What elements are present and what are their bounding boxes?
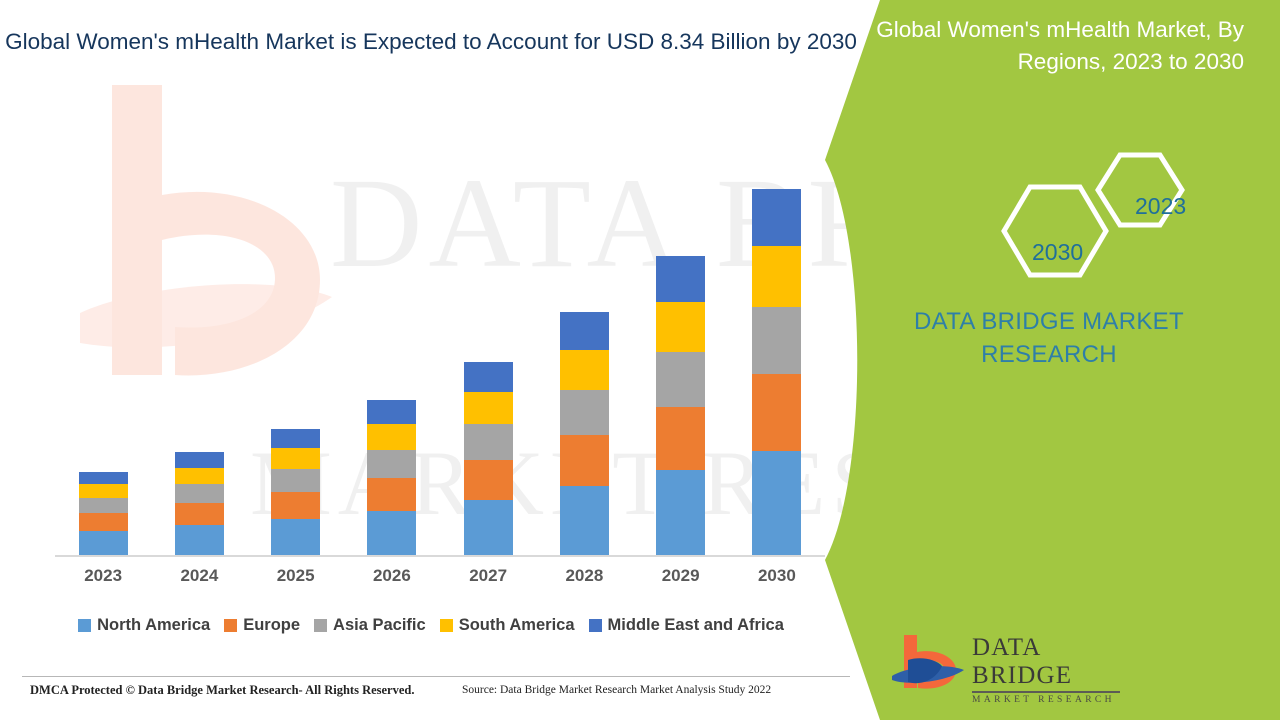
bar-segment: [175, 468, 224, 485]
legend-swatch-icon: [589, 619, 602, 632]
bar-segment: [367, 511, 416, 555]
bar-segment: [656, 256, 705, 303]
x-axis-labels: 20232024202520262027202820292030: [55, 566, 825, 596]
stacked-bar: [656, 256, 705, 555]
source-note: Source: Data Bridge Market Research Mark…: [462, 684, 771, 696]
footer-divider: [22, 676, 850, 677]
bar-segment: [271, 492, 320, 518]
bar-segment: [271, 519, 320, 555]
legend-item[interactable]: North America: [78, 616, 210, 635]
bar-segment: [271, 469, 320, 492]
x-axis-tick-label: 2026: [344, 566, 440, 596]
bar-segment: [271, 429, 320, 449]
panel-brand-text: DATA BRIDGE MARKET RESEARCH: [854, 305, 1244, 371]
legend-label: North America: [97, 616, 210, 635]
bar-segment: [560, 486, 609, 555]
bar-segment: [752, 374, 801, 451]
legend-swatch-icon: [224, 619, 237, 632]
legend-label: Asia Pacific: [333, 616, 426, 635]
logo-subtitle: MARKET RESEARCH: [972, 695, 1120, 705]
legend-label: Middle East and Africa: [608, 616, 784, 635]
bar-segment: [367, 424, 416, 450]
bar-segment: [752, 307, 801, 374]
bar-segment: [367, 478, 416, 511]
bar-segment: [656, 470, 705, 555]
legend-label: Europe: [243, 616, 300, 635]
logo-title: DATA BRIDGE: [972, 634, 1120, 690]
bar-segment: [79, 484, 128, 498]
data-bridge-logo: DATA BRIDGE MARKET RESEARCH: [890, 632, 1120, 694]
bar-segment: [79, 472, 128, 485]
bar-column: [440, 170, 536, 555]
stacked-bar: [464, 362, 513, 555]
bar-segment: [464, 392, 513, 424]
bar-column: [55, 170, 151, 555]
stacked-bar: [271, 429, 320, 555]
data-bridge-mark-icon: [890, 632, 966, 694]
stacked-bar: [175, 452, 224, 555]
bar-segment: [175, 484, 224, 503]
bar-column: [151, 170, 247, 555]
bar-segment: [367, 450, 416, 478]
x-axis-tick-label: 2029: [633, 566, 729, 596]
bar-segment: [367, 400, 416, 424]
bar-segment: [79, 498, 128, 513]
x-axis-tick-label: 2024: [151, 566, 247, 596]
bar-segment: [560, 312, 609, 350]
x-axis-tick-label: 2027: [440, 566, 536, 596]
bar-column: [344, 170, 440, 555]
x-axis-line: [55, 555, 825, 557]
bar-segment: [175, 452, 224, 468]
bar-segment: [752, 451, 801, 555]
copyright-notice: DMCA Protected © Data Bridge Market Rese…: [30, 683, 415, 698]
panel-title: Global Women's mHealth Market, By Region…: [854, 14, 1244, 78]
bar-segment: [175, 503, 224, 525]
bar-segment: [656, 407, 705, 470]
chart-legend: North AmericaEuropeAsia PacificSouth Ame…: [0, 616, 862, 635]
bar-segment: [560, 350, 609, 390]
bar-segment: [560, 435, 609, 486]
stacked-bar-chart: [55, 170, 825, 555]
x-axis-tick-label: 2028: [536, 566, 632, 596]
legend-item[interactable]: Asia Pacific: [314, 616, 426, 635]
bar-segment: [79, 531, 128, 555]
bar-column: [729, 170, 825, 555]
bar-column: [248, 170, 344, 555]
hexagon-outline-icon: [970, 145, 1250, 285]
hex-label-2023: 2023: [1135, 193, 1186, 220]
stacked-bar: [79, 472, 128, 555]
bar-segment: [656, 352, 705, 407]
x-axis-tick-label: 2030: [729, 566, 825, 596]
hexagon-badges: 2023 2030: [970, 145, 1250, 285]
hex-label-2030: 2030: [1032, 239, 1083, 266]
bar-column: [633, 170, 729, 555]
legend-swatch-icon: [78, 619, 91, 632]
logo-wordmark: DATA BRIDGE MARKET RESEARCH: [972, 634, 1120, 705]
legend-item[interactable]: South America: [440, 616, 575, 635]
bar-segment: [464, 500, 513, 555]
legend-swatch-icon: [314, 619, 327, 632]
bar-column: [536, 170, 632, 555]
bar-segment: [656, 302, 705, 351]
bar-segment: [752, 189, 801, 246]
stacked-bar: [752, 189, 801, 555]
legend-swatch-icon: [440, 619, 453, 632]
chart-title: Global Women's mHealth Market is Expecte…: [0, 24, 862, 60]
bar-segment: [752, 246, 801, 307]
bar-segment: [560, 390, 609, 435]
bar-segment: [464, 362, 513, 392]
stacked-bar: [367, 400, 416, 555]
bar-segment: [175, 525, 224, 555]
bar-segment: [79, 513, 128, 531]
legend-label: South America: [459, 616, 575, 635]
stacked-bar: [560, 312, 609, 555]
x-axis-tick-label: 2023: [55, 566, 151, 596]
bar-segment: [464, 424, 513, 460]
infographic-root: DATA BRIDGE MARKET RESEARCH Global Women…: [0, 0, 1280, 720]
legend-item[interactable]: Europe: [224, 616, 300, 635]
bar-segment: [271, 448, 320, 469]
bar-segment: [464, 460, 513, 501]
x-axis-tick-label: 2025: [248, 566, 344, 596]
logo-divider: [972, 691, 1120, 693]
legend-item[interactable]: Middle East and Africa: [589, 616, 784, 635]
